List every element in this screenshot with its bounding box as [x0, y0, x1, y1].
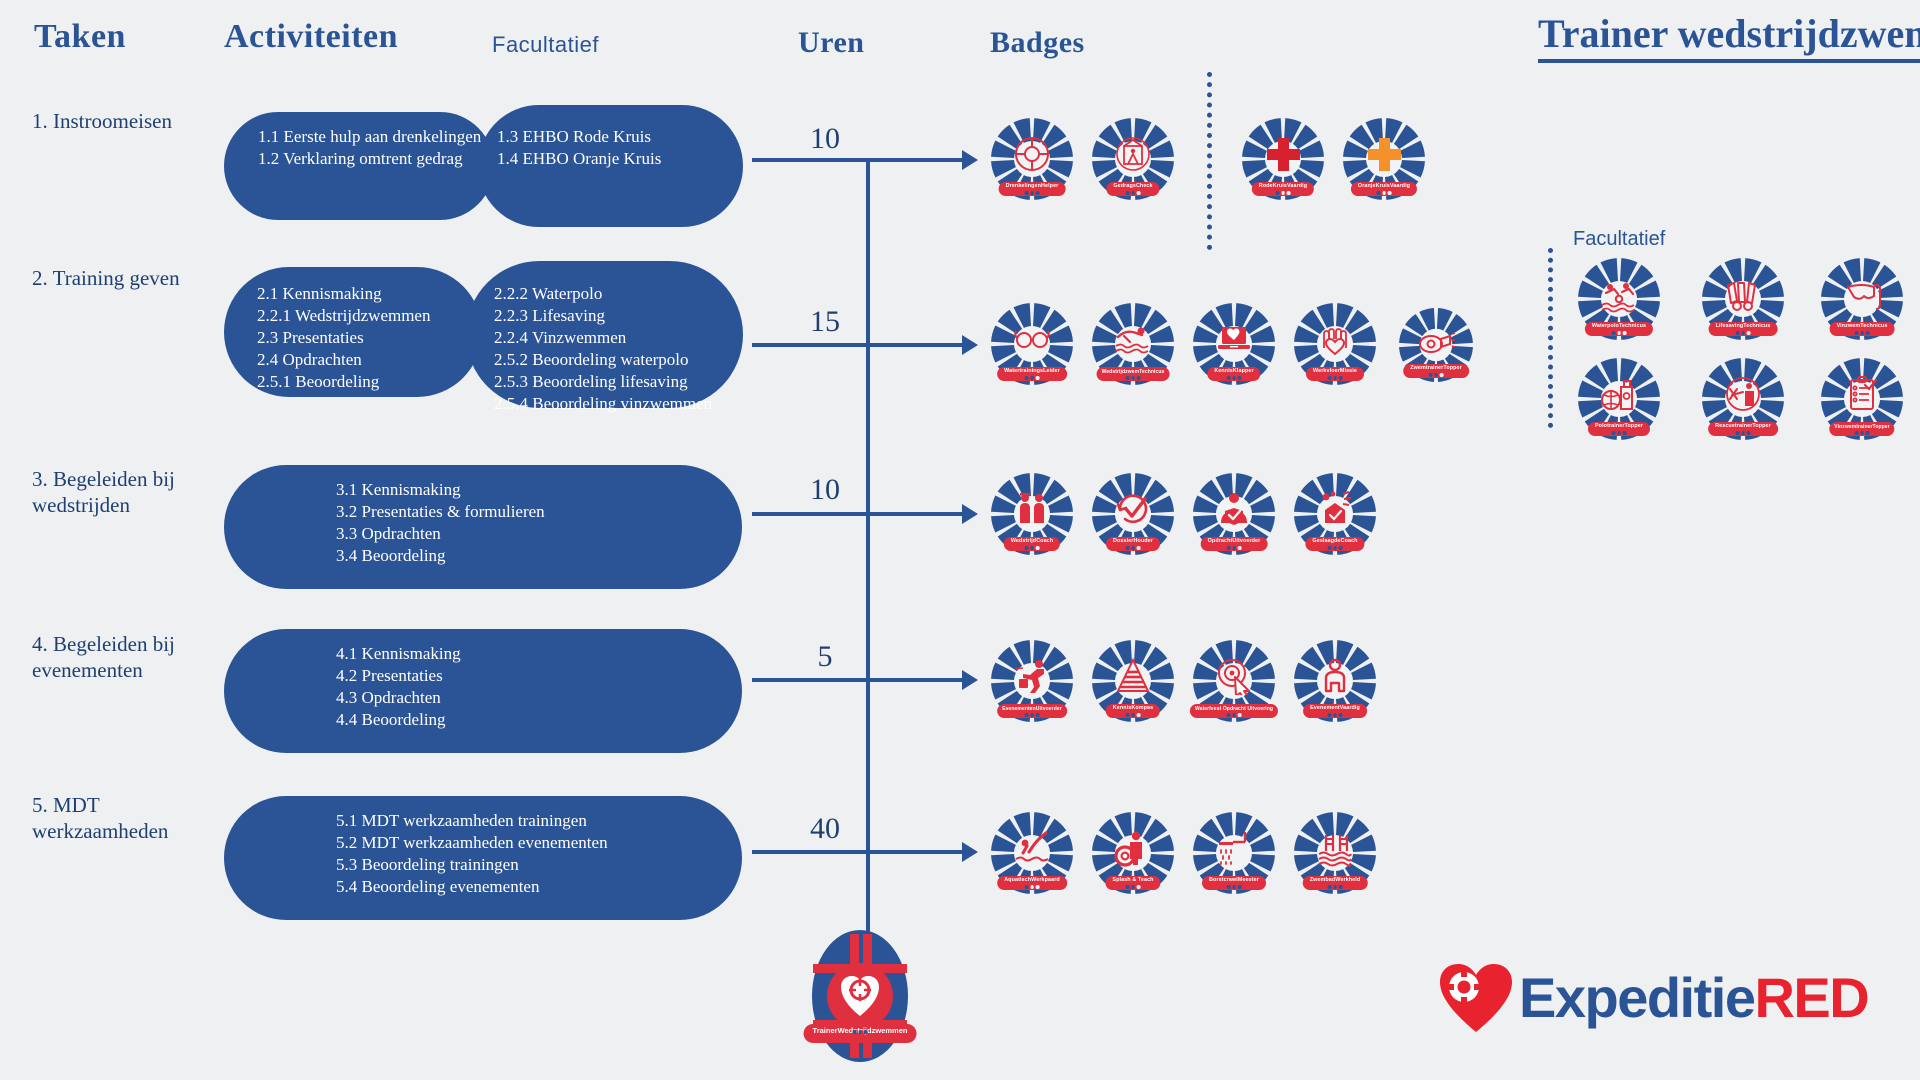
- connector-line-1: [752, 158, 970, 162]
- hands-heart-icon: [1316, 320, 1354, 358]
- badge-level-dots: [1227, 885, 1242, 889]
- goggles-icon: [1013, 320, 1051, 358]
- badge-3-3[interactable]: OpdrachtUitvoerder: [1193, 473, 1275, 555]
- red-cross-icon: [1264, 135, 1302, 173]
- person-shield-icon: [1215, 490, 1253, 528]
- optional-badge-3[interactable]: VinzwemTechnicus: [1821, 258, 1903, 340]
- logo-text-expeditie: Expeditie: [1519, 966, 1754, 1029]
- waterpolo-icon: [1600, 275, 1638, 313]
- badge-5-1[interactable]: AquatischWerkpaard: [991, 812, 1073, 894]
- activity-4-2: 4.2 Presentaties: [336, 665, 461, 687]
- activity-1-2: 1.2 Verklaring omtrent gedrag: [258, 148, 481, 170]
- connector-line-2: [752, 343, 970, 347]
- shower-icon: [1215, 829, 1253, 867]
- badge-level-dots: [1328, 713, 1343, 717]
- activity-5-3: 5.3 Beoordeling trainingen: [336, 854, 608, 876]
- activity-2-4: 2.4 Opdrachten: [257, 349, 430, 371]
- column-header-activiteiten: Activiteiten: [224, 18, 398, 56]
- connector-arrow-4: [962, 670, 978, 690]
- activity-5-4: 5.4 Beoordeling evenementen: [336, 876, 608, 898]
- connector-arrow-1: [962, 150, 978, 170]
- activity-3-4: 3.4 Beoordeling: [336, 545, 545, 567]
- fins-icon: [1724, 275, 1762, 313]
- connector-line-3: [752, 512, 970, 516]
- uren-value-1: 10: [785, 122, 865, 156]
- certificate-icon: [1114, 135, 1152, 173]
- connector-arrow-2: [962, 335, 978, 355]
- check-circle-icon: [1114, 490, 1152, 528]
- task-label-5: 5. MDT werkzaamheden: [32, 792, 232, 845]
- badge-3-1[interactable]: WedstrijdCoach: [991, 473, 1073, 555]
- person-icon: [1316, 657, 1354, 695]
- badge-3-2[interactable]: DossierHouder: [1092, 473, 1174, 555]
- badge-5-4[interactable]: ZwembadWerkheld: [1294, 812, 1376, 894]
- final-badge-trainer[interactable]: TrainerWedstrijdzwemmen: [795, 928, 925, 1064]
- lifesaver-person-icon: [1114, 829, 1152, 867]
- badge-level-dots: [1126, 376, 1141, 380]
- infographic-canvas: Taken Activiteiten Facultatief Uren Badg…: [0, 0, 1920, 1080]
- running-person-icon: [1013, 657, 1051, 695]
- badge-level-dots: [1736, 331, 1751, 335]
- diver-icon: [1013, 829, 1051, 867]
- connector-arrow-3: [962, 504, 978, 524]
- logo-text-red: RED: [1754, 966, 1868, 1029]
- task-label-2: 2. Training geven: [32, 265, 232, 291]
- connector-arrow-5: [962, 842, 978, 862]
- badge-level-dots: [1612, 431, 1627, 435]
- dotted-separator-optional: [1548, 248, 1553, 428]
- pyramid-icon: [1114, 657, 1152, 695]
- badge-5-2[interactable]: Splash & Teach: [1092, 812, 1174, 894]
- activity-2-opt-5: 2.5.3 Beoordeling lifesaving: [494, 371, 712, 393]
- activity-5-2: 5.2 MDT werkzaamheden evenementen: [336, 832, 608, 854]
- badge-2-5[interactable]: ZwemtrainerTopper: [1399, 308, 1473, 382]
- flow-spine: [866, 158, 870, 958]
- column-header-taken: Taken: [34, 18, 126, 56]
- badge-level-dots: [1126, 546, 1141, 550]
- badge-level-dots: [1126, 191, 1141, 195]
- logo-wordmark: ExpeditieRED: [1519, 970, 1868, 1026]
- badge-level-dots: [1025, 546, 1040, 550]
- badge-level-dots: [1377, 191, 1392, 195]
- badge-3-4[interactable]: GeslaagdeCoach: [1294, 473, 1376, 555]
- activity-4-1: 4.1 Kennismaking: [336, 643, 461, 665]
- badge-4-1[interactable]: EvenementenUitvoerder: [991, 640, 1073, 722]
- rescue-teacher-icon: [1724, 375, 1762, 413]
- optional-badge-5[interactable]: RescuetrainerTopper: [1702, 358, 1784, 440]
- final-badge-graphic: [795, 928, 925, 1064]
- swimmer-icon: [1114, 320, 1152, 358]
- badge-4-4[interactable]: EvenementVaardig: [1294, 640, 1376, 722]
- badge-level-dots: [1736, 431, 1751, 435]
- badge-level-dots: [1126, 885, 1141, 889]
- brand-logo: ExpeditieRED: [1437, 962, 1868, 1034]
- activity-1-1: 1.1 Eerste hulp aan drenkelingen: [258, 126, 481, 148]
- column-header-facultatief: Facultatief: [492, 32, 599, 58]
- task-label-1: 1. Instroomeisen: [32, 108, 232, 134]
- badge-level-dots: [853, 1030, 868, 1034]
- uren-value-2: 15: [785, 305, 865, 339]
- pool-icon: [1316, 829, 1354, 867]
- badge-level-dots: [1025, 713, 1040, 717]
- activity-3-2: 3.2 Presentaties & formulieren: [336, 501, 545, 523]
- activity-pill-4: [224, 629, 742, 753]
- badge-level-dots: [1276, 191, 1291, 195]
- task-label-3: 3. Begeleiden bij wedstrijden: [32, 466, 232, 519]
- badge-level-dots: [1855, 331, 1870, 335]
- header-badge-oranje-kruis[interactable]: OranjeKruisVaardig: [1343, 118, 1425, 200]
- badge-level-dots: [1025, 885, 1040, 889]
- dotted-separator-header: [1207, 72, 1212, 250]
- activity-2-opt-6: 2.5.4 Beoordeling vinzwemmen: [494, 393, 712, 415]
- ball-bottle-icon: [1600, 375, 1638, 413]
- badge-level-dots: [1612, 331, 1627, 335]
- badge-level-dots: [1227, 376, 1242, 380]
- column-header-badges: Badges: [990, 26, 1085, 60]
- activity-1-3: 1.3 EHBO Rode Kruis: [497, 126, 661, 148]
- task-label-4: 4. Begeleiden bij evenementen: [32, 631, 232, 684]
- activity-2-opt-3: 2.2.4 Vinzwemmen: [494, 327, 712, 349]
- laptop-heart-icon: [1215, 320, 1253, 358]
- target-cursor-icon: [1215, 657, 1253, 695]
- header-badge-rode-kruis[interactable]: RodeKruisVaardig: [1242, 118, 1324, 200]
- activity-2-opt-4: 2.5.2 Beoordeling waterpolo: [494, 349, 712, 371]
- activity-1-4: 1.4 EHBO Oranje Kruis: [497, 148, 661, 170]
- activity-2-2: 2.2.1 Wedstrijdzwemmen: [257, 305, 430, 327]
- badge-5-3[interactable]: BorstcrawlMeester: [1193, 812, 1275, 894]
- snorkel-mask-icon: [1843, 275, 1881, 313]
- uren-value-3: 10: [785, 473, 865, 507]
- lifebuoy-icon: [1013, 135, 1051, 173]
- optional-badge-1[interactable]: WaterpoloTechnicus: [1578, 258, 1660, 340]
- activity-3-1: 3.1 Kennismaking: [336, 479, 545, 501]
- activity-4-3: 4.3 Opdrachten: [336, 687, 461, 709]
- badge-level-dots: [1025, 376, 1040, 380]
- activity-2-3: 2.3 Presentaties: [257, 327, 430, 349]
- activity-2-opt-1: 2.2.2 Waterpolo: [494, 283, 712, 305]
- badge-level-dots: [1429, 373, 1444, 377]
- page-title: Trainer wedstrijdzwemmen: [1538, 10, 1920, 63]
- clipboard-icon: [1843, 375, 1881, 413]
- badge-level-dots: [1227, 546, 1242, 550]
- activity-3-3: 3.3 Opdrachten: [336, 523, 545, 545]
- badge-level-dots: [1855, 431, 1870, 435]
- badge-4-3[interactable]: Waterfeest Opdracht Uitvoering: [1193, 640, 1275, 722]
- orange-cross-icon: [1365, 135, 1403, 173]
- megaphone-icon: [1316, 490, 1354, 528]
- badge-2-2[interactable]: WedstrijdzwemTechnicus: [1092, 303, 1174, 385]
- badge-level-dots: [1227, 713, 1242, 717]
- badge-level-dots: [1328, 376, 1343, 380]
- two-people-icon: [1013, 490, 1051, 528]
- badge-2-1[interactable]: WatertrainingsLeider: [991, 303, 1073, 385]
- connector-line-5: [752, 850, 970, 854]
- badge-level-dots: [1328, 885, 1343, 889]
- connector-line-4: [752, 678, 970, 682]
- badge-2-4[interactable]: WerkvloerMissie: [1294, 303, 1376, 385]
- uren-value-5: 40: [785, 812, 865, 846]
- activity-2-opt-2: 2.2.3 Lifesaving: [494, 305, 712, 327]
- activity-5-1: 5.1 MDT werkzaamheden trainingen: [336, 810, 608, 832]
- column-header-uren: Uren: [798, 26, 864, 60]
- badge-level-dots: [1126, 713, 1141, 717]
- uren-value-4: 5: [785, 640, 865, 674]
- activity-2-1: 2.1 Kennismaking: [257, 283, 430, 305]
- activity-2-5: 2.5.1 Beoordeling: [257, 371, 430, 393]
- badge-level-dots: [1025, 191, 1040, 195]
- badge-2-3[interactable]: KennisKlapper: [1193, 303, 1275, 385]
- optional-badge-6[interactable]: VinzwemtrainerTopper: [1821, 358, 1903, 440]
- heart-lifebuoy-logo-icon: [1437, 962, 1515, 1034]
- badge-level-dots: [1328, 546, 1343, 550]
- whistle-icon: [1417, 322, 1455, 360]
- optional-section-label: Facultatief: [1573, 228, 1665, 251]
- optional-badge-4[interactable]: PolotrainerTopper: [1578, 358, 1660, 440]
- badge-1-1[interactable]: DrenkelingenHelper: [991, 118, 1073, 200]
- optional-badge-2[interactable]: LifesavingTechnicus: [1702, 258, 1784, 340]
- badge-4-2[interactable]: KennisKompas: [1092, 640, 1174, 722]
- activity-4-4: 4.4 Beoordeling: [336, 709, 461, 731]
- badge-1-2[interactable]: GedragsCheck: [1092, 118, 1174, 200]
